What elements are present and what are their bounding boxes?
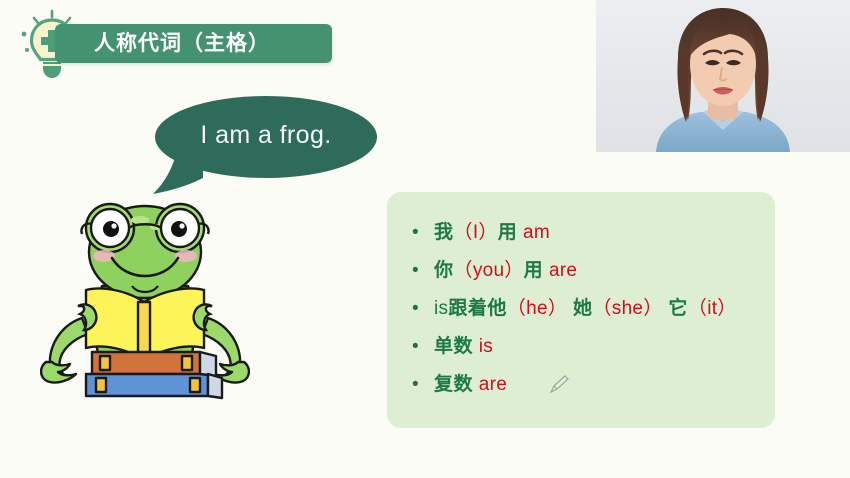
note-segment: （it）	[688, 298, 737, 319]
note-segment: （she）	[592, 298, 662, 319]
note-bullet-icon: •	[412, 214, 434, 252]
notes-list: •我（I）用 am•你（you）用 are•is跟着他（he） 她（she） 它…	[412, 214, 772, 404]
speech-bubble-text: I am a frog.	[155, 121, 377, 150]
note-segment: am	[523, 222, 550, 243]
note-segment: （he）	[507, 298, 567, 319]
note-item-text: is跟着他（he） 她（she） 它（it）	[434, 290, 737, 328]
note-item-rule-plural-are: •复数 are	[412, 366, 772, 404]
note-segment: （you）	[454, 260, 524, 281]
note-segment: are	[479, 374, 507, 395]
note-item-text: 单数 is	[434, 328, 493, 366]
note-segment: 用	[524, 260, 549, 281]
note-item-rule-singular-is: •单数 is	[412, 328, 772, 366]
pencil-annotation-cursor	[548, 373, 570, 395]
page-title: 人称代词（主格）	[94, 28, 334, 60]
note-segment: 跟着他	[448, 298, 507, 319]
teacher-webcam-feed[interactable]	[596, 0, 850, 152]
speech-bubble-tail	[151, 148, 211, 196]
note-segment: 单数	[434, 336, 479, 357]
note-segment: is	[434, 298, 448, 319]
lesson-slide: 人称代词（主格） I am a frog.	[0, 0, 850, 478]
note-bullet-icon: •	[412, 366, 434, 404]
note-segment: 她	[567, 298, 592, 319]
note-segment: is	[479, 336, 493, 357]
note-segment: 你	[434, 260, 454, 281]
note-item-rule-you-are: •你（you）用 are	[412, 252, 772, 290]
note-segment: 用	[498, 222, 523, 243]
teacher-portrait	[596, 0, 850, 152]
note-bullet-icon: •	[412, 252, 434, 290]
note-item-text: 复数 are	[434, 366, 507, 404]
note-segment: 它	[663, 298, 688, 319]
note-bullet-icon: •	[412, 290, 434, 328]
note-segment: 复数	[434, 374, 479, 395]
note-segment: are	[549, 260, 577, 281]
note-segment: （I）	[454, 222, 498, 243]
frog-reading-book-illustration	[40, 190, 250, 405]
note-bullet-icon: •	[412, 328, 434, 366]
note-item-rule-i-am: •我（I）用 am	[412, 214, 772, 252]
note-segment: 我	[434, 222, 454, 243]
note-item-rule-is-he-she-it: •is跟着他（he） 她（she） 它（it）	[412, 290, 772, 328]
note-item-text: 我（I）用 am	[434, 214, 550, 252]
note-item-text: 你（you）用 are	[434, 252, 577, 290]
